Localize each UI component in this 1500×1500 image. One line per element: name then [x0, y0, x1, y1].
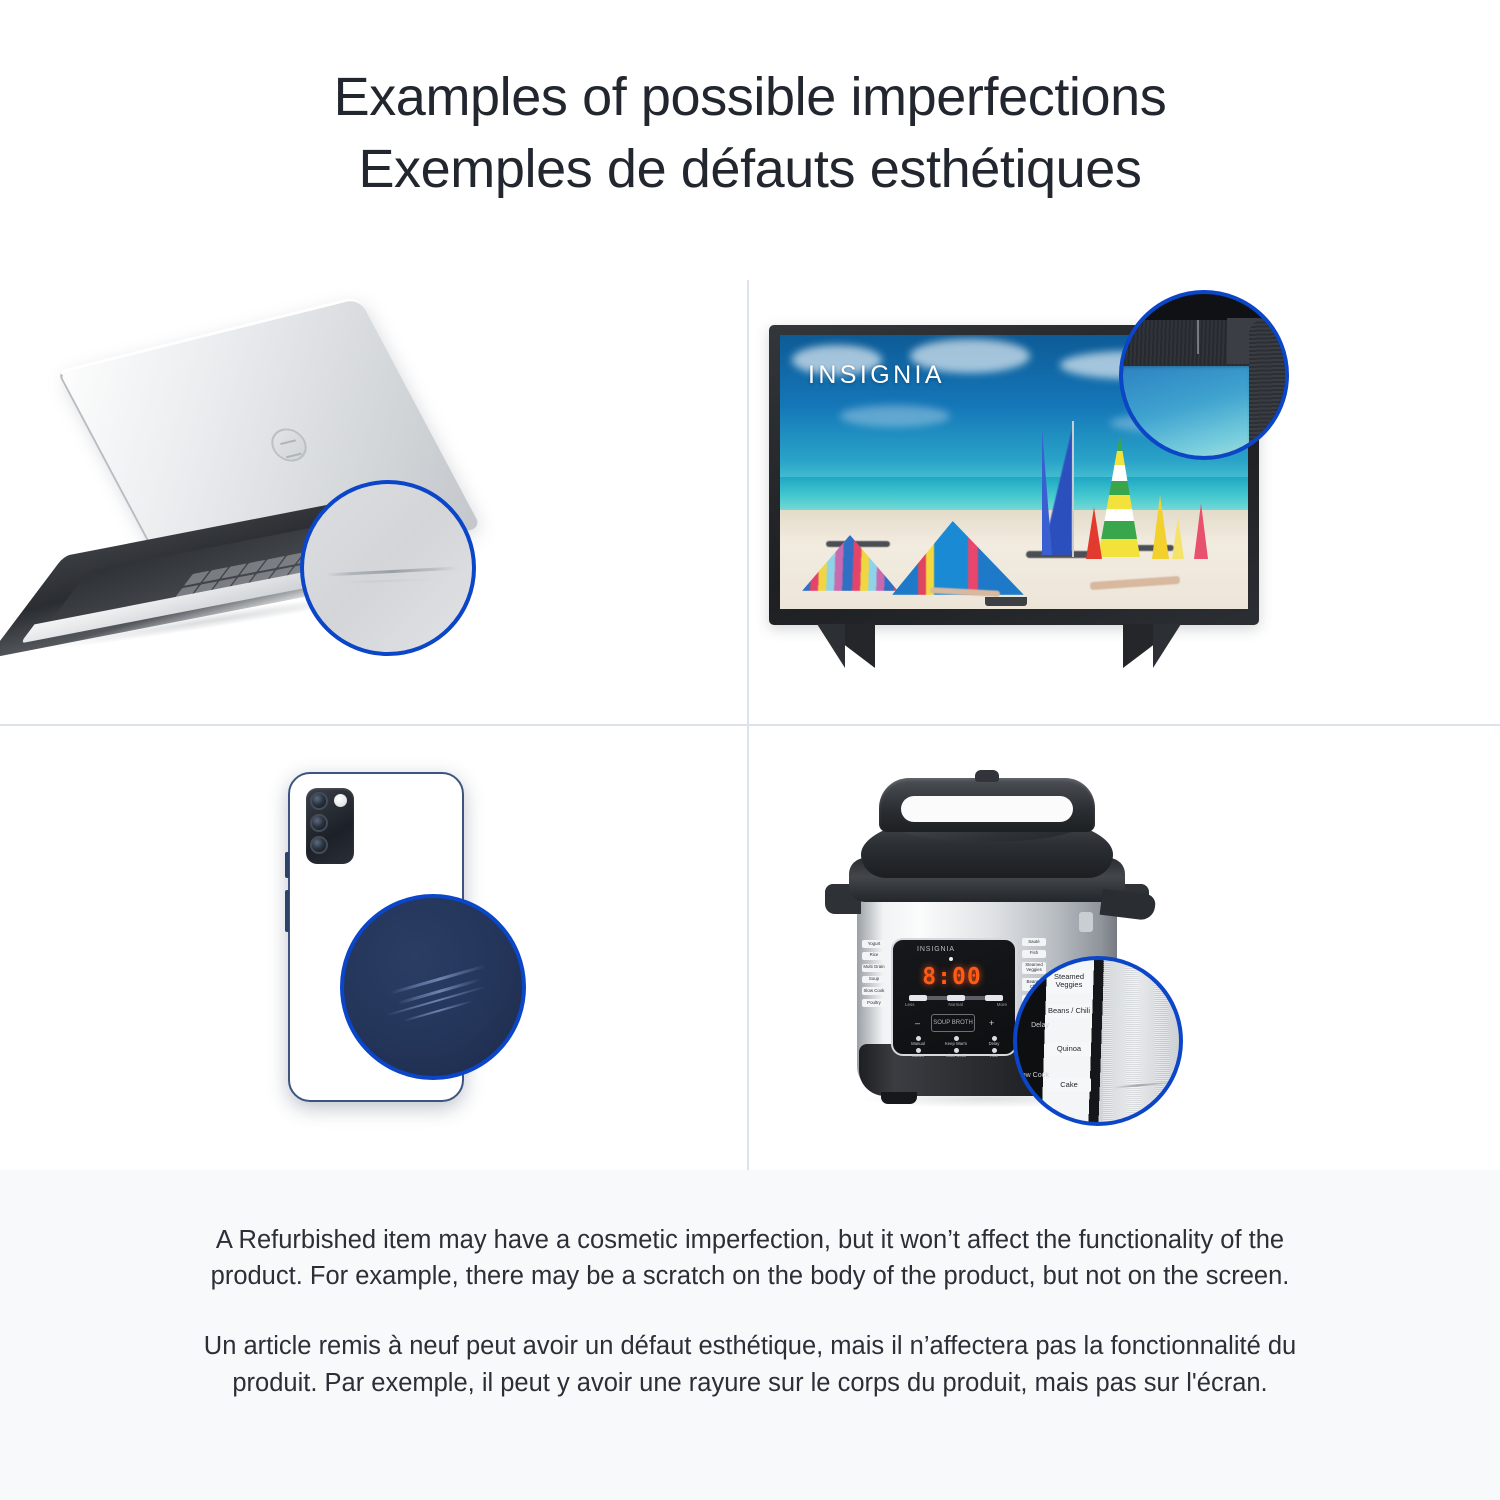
- magnified-preset-label: Quinoa: [1047, 1042, 1091, 1056]
- tv-foot-right-inner: [1153, 624, 1187, 668]
- product-examples-grid: INSIGNIA: [0, 280, 1500, 1170]
- button-label: Manual: [911, 1041, 925, 1046]
- quadrant-pressure-cooker: Yogurt Rice Multi Grain Soup Slow Cook P…: [749, 726, 1496, 1170]
- cooker-keep-warm-button[interactable]: Keep Warm: [941, 1036, 971, 1047]
- magnified-preset-label: Cake: [1047, 1078, 1091, 1092]
- brushed-steel-texture: [1103, 960, 1183, 1126]
- tv-brand-label: INSIGNIA: [808, 361, 945, 390]
- magnified-preset-label: Steamed Veggies: [1047, 970, 1091, 993]
- slider-label-more: More: [997, 1002, 1007, 1007]
- mast: [1072, 421, 1074, 557]
- cooker-preset-button[interactable]: Rice: [862, 952, 886, 960]
- cooker-preset-button[interactable]: Slow Cook: [862, 987, 886, 995]
- cooker-slider-labels: Less Normal More: [905, 1002, 1007, 1007]
- magnifier-phone-scratches: [340, 894, 526, 1080]
- cooker-handle-opening: [901, 796, 1073, 822]
- camera-flash-icon: [334, 794, 347, 807]
- footer-text-en: A Refurbished item may have a cosmetic i…: [170, 1222, 1330, 1294]
- magnified-side-label: Delay: [1015, 1022, 1049, 1029]
- sail-light-yellow: [1172, 517, 1184, 559]
- cooker-preset-button[interactable]: Steamed Veggies: [1022, 962, 1046, 975]
- button-label: Steam: [912, 1053, 924, 1058]
- phone-volume-button: [285, 852, 289, 878]
- phone-power-button: [285, 890, 289, 932]
- scratch-mark: [326, 567, 458, 577]
- cooker-button-row-2[interactable]: Steam Slow Cook Rice: [903, 1048, 1009, 1059]
- sail-red: [1086, 507, 1102, 559]
- cooker-rice-button[interactable]: Rice: [979, 1048, 1009, 1059]
- tv-stand-bump: [985, 597, 1027, 606]
- magnified-bezel-side: [1249, 320, 1289, 460]
- cooker-latch: [1079, 912, 1093, 932]
- sail-yellow: [1152, 495, 1169, 559]
- quadrant-laptop: [0, 280, 747, 724]
- slider-label-less: Less: [905, 1002, 915, 1007]
- cooker-preset-button[interactable]: Multi Grain: [862, 964, 886, 972]
- sail-pink: [1194, 503, 1208, 559]
- camera-lens-icon: [310, 836, 328, 854]
- cooker-steam-button[interactable]: Steam: [903, 1048, 933, 1059]
- scratch-mark: [403, 1000, 473, 1022]
- pressure-cooker-illustration: Yogurt Rice Multi Grain Soup Slow Cook P…: [749, 726, 1496, 1170]
- smartphone-illustration: [0, 726, 747, 1170]
- camera-lens-icon: [310, 792, 328, 810]
- cloud: [840, 405, 950, 427]
- camera-lens-icon: [310, 814, 328, 832]
- magnifier-laptop-scratch: [300, 480, 476, 656]
- magnifier-cooker-scratch: Steamed Veggies Beans / Chili Quinoa Cak…: [1013, 956, 1183, 1126]
- television-illustration: INSIGNIA: [749, 280, 1496, 724]
- page-title-fr: Exemples de défauts esthétiques: [0, 134, 1500, 206]
- cooker-foot-left: [881, 1092, 917, 1104]
- cooker-left-button-column[interactable]: Yogurt Rice Multi Grain Soup Slow Cook P…: [861, 940, 887, 1007]
- cooker-preset-button[interactable]: Yogurt: [862, 940, 886, 948]
- button-label: Rice: [990, 1053, 998, 1058]
- cooker-slow-cook-button[interactable]: Slow Cook: [941, 1048, 971, 1059]
- laptop-illustration: [0, 280, 747, 724]
- cooker-brand-label: INSIGNIA: [917, 946, 955, 953]
- cooker-preset-button[interactable]: Fish: [1022, 950, 1046, 958]
- footer-text-fr: Un article remis à neuf peut avoir un dé…: [170, 1328, 1330, 1400]
- button-label: Delay: [989, 1041, 1000, 1046]
- cooker-pressure-valve-icon: [975, 770, 999, 782]
- cooker-delay-button[interactable]: Delay: [979, 1036, 1009, 1047]
- cooker-preset-button[interactable]: Poultry: [862, 999, 886, 1007]
- magnified-screen-area: [1119, 364, 1253, 460]
- page-title-en: Examples of possible imperfections: [0, 62, 1500, 134]
- cooker-manual-button[interactable]: Manual: [903, 1036, 933, 1047]
- slider-label-normal: Normal: [948, 1002, 963, 1007]
- cooker-mode-display: SOUP BROTH: [931, 1014, 975, 1032]
- quadrant-smartphone: [0, 726, 747, 1170]
- cooker-button-row-1[interactable]: Manual Keep Warm Delay: [903, 1036, 1009, 1047]
- magnified-preset-label: Beans / Chili: [1047, 1004, 1091, 1018]
- footer-description: A Refurbished item may have a cosmetic i…: [0, 1170, 1500, 1500]
- button-label: Slow Cook: [946, 1053, 966, 1058]
- tv-foot-left-inner: [811, 624, 845, 668]
- cooker-status-indicator: [949, 957, 953, 961]
- scuff-mark: [1197, 320, 1199, 354]
- cooker-decrease-button[interactable]: –: [915, 1018, 920, 1028]
- cooker-pressure-slider[interactable]: [909, 996, 1003, 1000]
- cooker-preset-button[interactable]: Soup: [862, 976, 886, 984]
- magnifier-tv-bezel-scuff: [1119, 290, 1289, 460]
- magnified-side-label: Slow Cook: [1015, 1072, 1049, 1079]
- quadrant-television: INSIGNIA: [749, 280, 1496, 724]
- cooker-control-panel[interactable]: INSIGNIA 8:00 Less Normal More – SOUP BR…: [891, 938, 1017, 1056]
- cooker-preset-button[interactable]: Sauté: [1022, 938, 1046, 946]
- cooker-increase-button[interactable]: +: [989, 1018, 994, 1028]
- button-label: Keep Warm: [945, 1041, 967, 1046]
- scratch-mark-secondary: [338, 578, 434, 583]
- cooker-timer-display: 8:00: [915, 964, 989, 990]
- sail-blue-right: [1042, 429, 1052, 555]
- page-header: Examples of possible imperfections Exemp…: [0, 0, 1500, 206]
